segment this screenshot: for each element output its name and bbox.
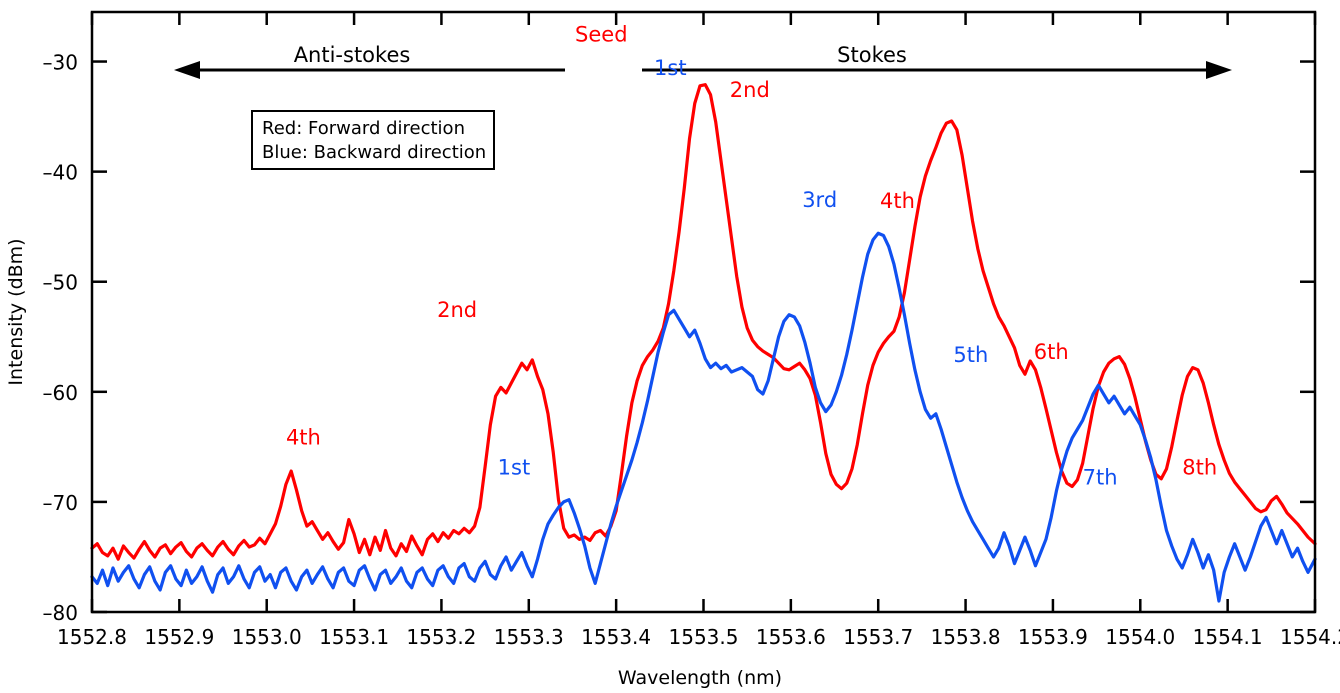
peak-label-2nd: 2nd bbox=[730, 78, 770, 102]
x-tick-label: 1553.2 bbox=[406, 625, 476, 649]
peak-label-5th: 5th bbox=[953, 343, 988, 367]
peak-label-4th: 4th bbox=[880, 189, 915, 213]
spectrum-figure: 1552.81552.91553.01553.11553.21553.31553… bbox=[0, 0, 1340, 693]
plot-canvas: 1552.81552.91553.01553.11553.21553.31553… bbox=[0, 0, 1340, 693]
peak-label-4th: 4th bbox=[286, 426, 321, 450]
y-tick-label: –80 bbox=[43, 601, 78, 625]
x-tick-label: 1553.4 bbox=[581, 625, 651, 649]
y-tick-label: –30 bbox=[43, 51, 78, 75]
x-tick-label: 1554.2 bbox=[1280, 625, 1340, 649]
x-tick-label: 1553.7 bbox=[843, 625, 913, 649]
x-tick-label: 1552.8 bbox=[57, 625, 127, 649]
x-tick-label: 1553.0 bbox=[232, 625, 302, 649]
x-tick-label: 1554.1 bbox=[1193, 625, 1263, 649]
x-tick-label: 1553.6 bbox=[756, 625, 826, 649]
peak-label-8th: 8th bbox=[1182, 455, 1217, 479]
x-tick-label: 1554.0 bbox=[1105, 625, 1175, 649]
peak-label-7th: 7th bbox=[1083, 465, 1118, 489]
y-tick-label: –50 bbox=[43, 271, 78, 295]
legend-line-backward: Blue: Backward direction bbox=[262, 142, 486, 163]
x-tick-label: 1553.9 bbox=[1018, 625, 1088, 649]
x-tick-label: 1553.1 bbox=[319, 625, 389, 649]
x-tick-label: 1553.5 bbox=[669, 625, 739, 649]
figure-background bbox=[0, 0, 1340, 693]
peak-label-seed: Seed bbox=[575, 23, 628, 47]
x-axis-title: Wavelength (nm) bbox=[618, 667, 782, 689]
anti-stokes-label: Anti-stokes bbox=[294, 43, 411, 67]
peak-label-3rd: 3rd bbox=[802, 188, 837, 212]
y-axis-title: Intensity (dBm) bbox=[5, 238, 27, 385]
peak-label-2nd: 2nd bbox=[437, 298, 477, 322]
x-tick-label: 1553.8 bbox=[931, 625, 1001, 649]
y-tick-label: –60 bbox=[43, 381, 78, 405]
x-tick-label: 1552.9 bbox=[144, 625, 214, 649]
peak-label-1st: 1st bbox=[498, 455, 531, 479]
x-tick-label: 1553.3 bbox=[494, 625, 564, 649]
stokes-label: Stokes bbox=[837, 43, 907, 67]
peak-label-1st: 1st bbox=[654, 56, 687, 80]
x-axis-tick-labels: 1552.81552.91553.01553.11553.21553.31553… bbox=[57, 625, 1340, 649]
direction-legend: Red: Forward direction Blue: Backward di… bbox=[252, 111, 494, 169]
y-tick-label: –40 bbox=[43, 161, 78, 185]
y-tick-label: –70 bbox=[43, 491, 78, 515]
legend-line-forward: Red: Forward direction bbox=[262, 118, 465, 139]
peak-label-6th: 6th bbox=[1034, 340, 1069, 364]
